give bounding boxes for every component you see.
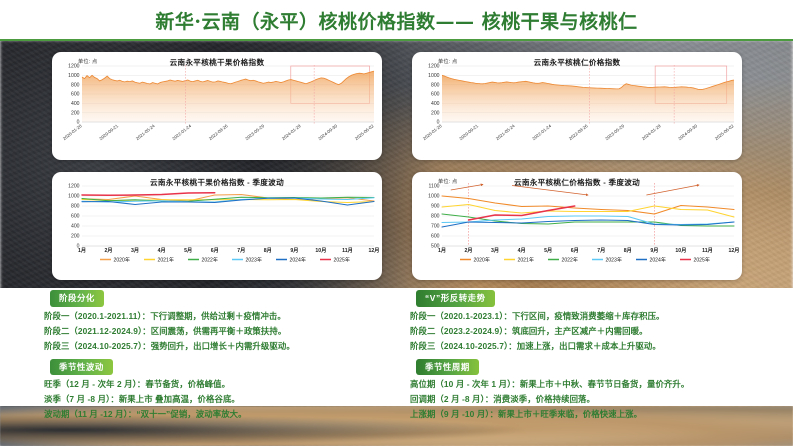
svg-text:1100: 1100 <box>429 184 440 190</box>
svg-text:2021-05-24: 2021-05-24 <box>495 123 516 141</box>
svg-text:1200: 1200 <box>68 64 79 70</box>
svg-text:1000: 1000 <box>428 73 439 79</box>
svg-text:12月: 12月 <box>729 246 740 254</box>
svg-text:800: 800 <box>431 82 440 88</box>
season-line: 旺季（12 月 - 次年 2 月）：春节备货，价格峰值。 <box>44 378 418 390</box>
svg-text:2月: 2月 <box>105 246 113 254</box>
svg-text:10月: 10月 <box>315 246 326 254</box>
svg-text:2025年: 2025年 <box>694 257 710 264</box>
svg-text:1200: 1200 <box>428 64 439 70</box>
svg-text:2021年: 2021年 <box>158 257 174 264</box>
svg-text:200: 200 <box>71 234 80 240</box>
svg-text:5月: 5月 <box>184 246 192 254</box>
badge-stage-divergence: 阶段分化 <box>50 290 104 307</box>
svg-text:2024年: 2024年 <box>650 257 666 264</box>
chart-card-dried-walnut-seasonal[interactable]: 云南永平核桃干果价格指数 - 季度波动 02004006008001000120… <box>52 172 382 280</box>
svg-text:2024-09-30: 2024-09-30 <box>677 123 698 141</box>
svg-text:6月: 6月 <box>571 246 579 254</box>
svg-text:2月: 2月 <box>465 246 473 254</box>
analysis-column-dried-walnut: 阶段分化 阶段一（2020.1-2021.11）：下行调整期，供给过剩＋疫情冲击… <box>38 288 418 420</box>
chart-canvas-bottom-right: 500600700800900100011001月2月3月4月5月6月7月8月9… <box>412 172 742 280</box>
svg-text:2022年: 2022年 <box>202 257 218 264</box>
season-line: 高位期（10 月 - 次年 1 月）：新果上市＋中秋、春节节日备货，量价齐升。 <box>410 378 784 390</box>
svg-text:2020年: 2020年 <box>114 257 130 264</box>
svg-text:400: 400 <box>71 224 80 230</box>
svg-text:2025-06-02: 2025-06-02 <box>354 123 375 141</box>
svg-text:2023年: 2023年 <box>246 257 262 264</box>
season-line: 上涨期（9 月 -10 月）：新果上市＋旺季来临，价格快速上涨。 <box>410 408 784 420</box>
svg-text:800: 800 <box>431 214 440 220</box>
svg-text:9月: 9月 <box>290 246 298 254</box>
svg-text:600: 600 <box>431 234 440 240</box>
stage-line: 阶段三（2024.10-2025.7）：强势回升，出口增长＋内需升级驱动。 <box>44 340 418 352</box>
svg-text:2020-09-21: 2020-09-21 <box>458 123 479 141</box>
svg-text:2024-01-29: 2024-01-29 <box>641 123 662 141</box>
page-title: 新华·云南（永平）核桃价格指数—— 核桃干果与核桃仁 <box>155 7 637 34</box>
svg-text:2022年: 2022年 <box>562 257 578 264</box>
svg-text:6月: 6月 <box>211 246 219 254</box>
chart-canvas-top-right: 0200400600800100012002020-01-202020-09-2… <box>412 52 742 160</box>
badge-v-reversal: “V”形反转走势 <box>416 290 495 307</box>
chart-canvas-bottom-left: 0200400600800100012001月2月3月4月5月6月7月8月9月1… <box>52 172 382 280</box>
svg-text:3月: 3月 <box>491 246 499 254</box>
svg-text:2023-05-29: 2023-05-29 <box>604 123 625 141</box>
svg-text:2024-09-30: 2024-09-30 <box>317 123 338 141</box>
chart-card-kernel-index[interactable]: 单位: 点 云南永平核桃仁价格指数 0200400600800100012002… <box>412 52 742 160</box>
svg-text:200: 200 <box>71 110 80 116</box>
svg-text:2022-01-24: 2022-01-24 <box>531 123 552 141</box>
svg-text:2021年: 2021年 <box>518 257 534 264</box>
svg-text:200: 200 <box>431 110 440 116</box>
svg-text:2023年: 2023年 <box>606 257 622 264</box>
header-bar: 新华·云南（永平）核桃价格指数—— 核桃干果与核桃仁 <box>0 0 793 40</box>
svg-text:8月: 8月 <box>264 246 272 254</box>
svg-text:800: 800 <box>71 204 80 210</box>
svg-text:2024-01-29: 2024-01-29 <box>281 123 302 141</box>
svg-text:12月: 12月 <box>369 246 380 254</box>
analysis-column-kernel: “V”形反转走势 阶段一（2020.1-2023.1）：下行区间，疫情致消费萎缩… <box>404 288 784 420</box>
svg-text:7月: 7月 <box>237 246 245 254</box>
svg-text:700: 700 <box>431 224 440 230</box>
svg-text:800: 800 <box>71 82 80 88</box>
chart-card-kernel-seasonal[interactable]: 单位: 点 云南永平核桃仁价格指数 - 季度波动 500600700800900… <box>412 172 742 280</box>
slide-root: 新华·云南（永平）核桃价格指数—— 核桃干果与核桃仁 单位: 点 云南永平核桃干… <box>0 0 793 446</box>
svg-text:600: 600 <box>431 92 440 98</box>
svg-text:2020年: 2020年 <box>474 257 490 264</box>
svg-text:2025年: 2025年 <box>334 257 350 264</box>
svg-text:7月: 7月 <box>597 246 605 254</box>
stage-line: 阶段三（2024.10-2025.7）：加速上涨，出口需求＋成本上升驱动。 <box>410 340 784 352</box>
stage-line: 阶段一（2020.1-2021.11）：下行调整期，供给过剩＋疫情冲击。 <box>44 310 418 322</box>
svg-text:4月: 4月 <box>158 246 166 254</box>
svg-text:2022-09-26: 2022-09-26 <box>568 123 589 141</box>
svg-text:3月: 3月 <box>131 246 139 254</box>
svg-text:1000: 1000 <box>428 194 439 200</box>
svg-text:4月: 4月 <box>518 246 526 254</box>
chart-card-dried-walnut-index[interactable]: 单位: 点 云南永平核桃干果价格指数 020040060080010001200… <box>52 52 382 160</box>
svg-text:9月: 9月 <box>650 246 658 254</box>
svg-text:2023-05-29: 2023-05-29 <box>244 123 265 141</box>
stage-line: 阶段一（2020.1-2023.1）：下行区间，疫情致消费萎缩＋库存积压。 <box>410 310 784 322</box>
svg-text:1000: 1000 <box>68 73 79 79</box>
svg-text:600: 600 <box>71 92 80 98</box>
svg-text:11月: 11月 <box>702 246 713 254</box>
svg-text:1月: 1月 <box>438 246 446 254</box>
svg-text:2024年: 2024年 <box>290 257 306 264</box>
badge-seasonal-fluctuation: 季节性波动 <box>50 359 113 376</box>
svg-text:8月: 8月 <box>624 246 632 254</box>
analysis-text-panel: 阶段分化 阶段一（2020.1-2021.11）：下行调整期，供给过剩＋疫情冲击… <box>0 288 793 406</box>
svg-text:2020-01-20: 2020-01-20 <box>62 123 83 141</box>
stage-line: 阶段二（2023.2-2024.9）：筑底回升，主产区减产＋内需回暖。 <box>410 325 784 337</box>
stage-line: 阶段二（2021.12-2024.9）：区间震荡，供需再平衡＋政策扶持。 <box>44 325 418 337</box>
svg-text:1000: 1000 <box>68 194 79 200</box>
svg-text:10月: 10月 <box>675 246 686 254</box>
season-line: 淡季（7 月 -8 月）：新果上市 叠加高温，价格谷底。 <box>44 393 418 405</box>
svg-text:600: 600 <box>71 214 80 220</box>
svg-text:2020-01-20: 2020-01-20 <box>422 123 443 141</box>
svg-text:900: 900 <box>431 204 440 210</box>
svg-text:1200: 1200 <box>68 184 79 190</box>
svg-text:2020-09-21: 2020-09-21 <box>98 123 119 141</box>
svg-text:11月: 11月 <box>342 246 353 254</box>
season-line: 波动期（11 月 -12 月）：“双十一”促销，波动率放大。 <box>44 408 418 420</box>
svg-text:400: 400 <box>431 101 440 107</box>
season-line: 回调期（2 月 -8 月）：消费淡季，价格持续回落。 <box>410 393 784 405</box>
svg-text:2022-01-24: 2022-01-24 <box>171 123 192 141</box>
svg-text:5月: 5月 <box>544 246 552 254</box>
svg-text:1月: 1月 <box>78 246 86 254</box>
svg-text:400: 400 <box>71 101 80 107</box>
svg-text:2021-05-24: 2021-05-24 <box>135 123 156 141</box>
badge-seasonal-cycle: 季节性周期 <box>416 359 479 376</box>
svg-text:2025-06-02: 2025-06-02 <box>714 123 735 141</box>
svg-text:2022-09-26: 2022-09-26 <box>208 123 229 141</box>
header-divider <box>0 39 793 41</box>
chart-canvas-top-left: 0200400600800100012002020-01-202020-09-2… <box>52 52 382 160</box>
